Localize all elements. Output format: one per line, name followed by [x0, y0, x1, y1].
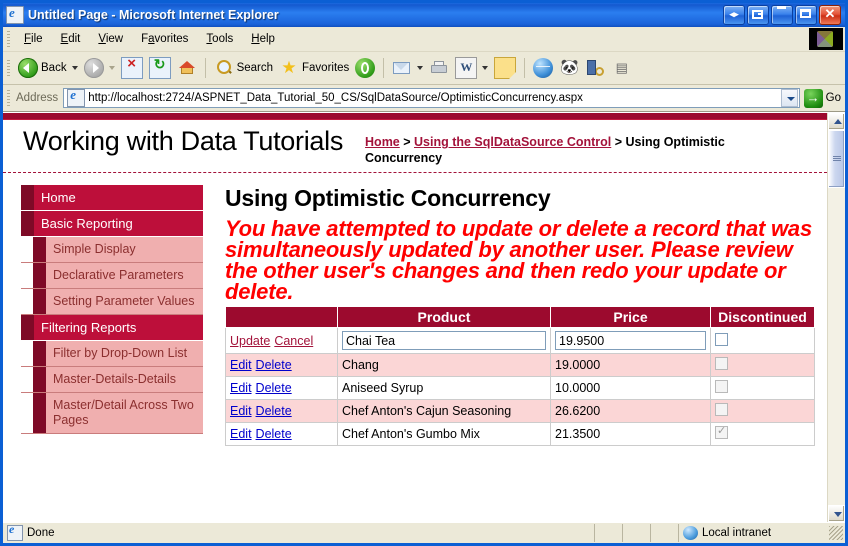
discontinued-checkbox: [715, 403, 728, 416]
discontinued-cell: [711, 377, 815, 400]
table-row: UpdateCancel: [226, 328, 815, 354]
delete-link[interactable]: Delete: [256, 404, 292, 418]
msn-button[interactable]: 🐼: [556, 55, 582, 81]
mail-button[interactable]: [389, 55, 426, 81]
concurrency-warning-message: You have attempted to update or delete a…: [225, 218, 815, 302]
address-url-text: http://localhost:2724/ASPNET_Data_Tutori…: [88, 92, 780, 104]
notes-icon: [494, 57, 516, 79]
price-cell: [551, 328, 711, 354]
sidebar-item-setting-parameter-values[interactable]: Setting Parameter Values: [21, 289, 203, 315]
grid-header-commands: [226, 307, 338, 328]
page-header: Working with Data Tutorials Home > Using…: [3, 120, 827, 170]
price-cell: 10.0000: [551, 377, 711, 400]
scroll-up-icon[interactable]: [828, 113, 845, 130]
search-button[interactable]: Search: [211, 55, 276, 81]
media-icon: [355, 58, 375, 78]
chevron-down-icon[interactable]: [781, 89, 798, 107]
discontinued-checkbox: [715, 426, 728, 439]
scroll-down-icon[interactable]: [828, 505, 845, 522]
sidebar-item-filter-by-drop-down-list[interactable]: Filter by Drop-Down List: [21, 341, 203, 367]
edit-link[interactable]: Edit: [230, 427, 252, 441]
scrollbar-thumb[interactable]: [828, 130, 845, 188]
messenger-button[interactable]: [530, 55, 556, 81]
home-button[interactable]: [174, 55, 200, 81]
page-viewport: Working with Data Tutorials Home > Using…: [3, 112, 845, 522]
green-arrow-icon: [804, 89, 823, 108]
sidebar-item-declarative-parameters[interactable]: Declarative Parameters: [21, 263, 203, 289]
scrollbar-track[interactable]: [828, 130, 845, 505]
main-content: Using Optimistic Concurrency You have at…: [203, 173, 827, 446]
product-cell: [338, 328, 551, 354]
grid-header-product: Product: [338, 307, 551, 328]
update-link[interactable]: Update: [230, 334, 270, 348]
window-title: Untitled Page - Microsoft Internet Explo…: [28, 8, 279, 22]
toolbar-separator-2: [383, 58, 384, 78]
window-app-icon: [6, 6, 24, 24]
media-button[interactable]: [352, 55, 378, 81]
go-button[interactable]: Go: [802, 89, 845, 108]
page-body: Home Basic Reporting Simple Display Decl…: [3, 173, 827, 446]
address-grip[interactable]: [7, 90, 10, 106]
mail-icon: [392, 58, 412, 78]
messenger-globe-icon: [533, 58, 553, 78]
address-label: Address: [15, 92, 63, 104]
row-commands: EditDelete: [226, 354, 338, 377]
product-cell: Chef Anton's Gumbo Mix: [338, 423, 551, 446]
edit-link[interactable]: Edit: [230, 358, 252, 372]
print-button[interactable]: [426, 55, 452, 81]
grid-header-row: Product Price Discontinued: [226, 307, 815, 328]
maximize-button[interactable]: [795, 5, 817, 25]
menu-edit[interactable]: Edit: [52, 31, 90, 47]
price-input[interactable]: [555, 331, 706, 350]
breadcrumb-link-home[interactable]: Home: [365, 135, 400, 149]
table-row: EditDelete Chang 19.0000: [226, 354, 815, 377]
minimize-button[interactable]: [771, 5, 793, 25]
row-commands: UpdateCancel: [226, 328, 338, 354]
back-dropdown-icon[interactable]: [72, 66, 78, 70]
menu-help[interactable]: Help: [242, 31, 284, 47]
menu-bar: File Edit View Favorites Tools Help: [3, 27, 845, 52]
grid-header-discontinued: Discontinued: [711, 307, 815, 328]
menu-favorites[interactable]: Favorites: [132, 31, 197, 47]
notes-button[interactable]: [491, 55, 519, 81]
edit-html-icon: ▤: [611, 58, 631, 78]
sidebar-item-master-detail-across-two-pages[interactable]: Master/Detail Across Two Pages: [21, 393, 203, 434]
table-row: EditDelete Aniseed Syrup 10.0000: [226, 377, 815, 400]
print-icon: [429, 58, 449, 78]
price-cell: 21.3500: [551, 423, 711, 446]
discontinued-checkbox: [715, 380, 728, 393]
favorites-button[interactable]: ★ Favorites: [276, 55, 352, 81]
menu-tools[interactable]: Tools: [197, 31, 242, 47]
delete-link[interactable]: Delete: [256, 427, 292, 441]
delete-link[interactable]: Delete: [256, 381, 292, 395]
status-bar: Done Local intranet: [3, 522, 845, 543]
page-title: Using Optimistic Concurrency: [225, 185, 815, 212]
sidebar-item-master-details-details[interactable]: Master-Details-Details: [21, 367, 203, 393]
sidebar-nav: Home Basic Reporting Simple Display Decl…: [3, 173, 203, 434]
sidebar-item-filtering-reports[interactable]: Filtering Reports: [21, 315, 203, 341]
status-pane-3: [651, 524, 679, 542]
address-input[interactable]: http://localhost:2724/ASPNET_Data_Tutori…: [63, 88, 799, 108]
close-button[interactable]: ✕: [819, 5, 841, 25]
grid-header-price: Price: [551, 307, 711, 328]
breadcrumb-sep-1: >: [400, 135, 414, 149]
window-controls: ◂▸ ✕: [723, 5, 843, 25]
stop-button[interactable]: [118, 55, 146, 81]
row-commands: EditDelete: [226, 400, 338, 423]
security-zone[interactable]: Local intranet: [679, 524, 829, 542]
row-commands: EditDelete: [226, 377, 338, 400]
back-button[interactable]: Back: [15, 55, 81, 81]
price-cell: 26.6200: [551, 400, 711, 423]
toolbar: Back Search ★ Favorites: [3, 52, 845, 85]
price-cell: 19.0000: [551, 354, 711, 377]
discontinued-checkbox: [715, 357, 728, 370]
edit-word-icon: [455, 57, 477, 79]
security-zone-text: Local intranet: [702, 527, 771, 539]
search-icon: [214, 58, 234, 78]
discontinued-cell: [711, 423, 815, 446]
status-page-icon: [7, 525, 23, 541]
mail-dropdown-icon[interactable]: [417, 66, 423, 70]
toolbar-grip[interactable]: [7, 60, 10, 76]
menu-grip[interactable]: [7, 31, 10, 47]
sidebar-item-basic-reporting[interactable]: Basic Reporting: [21, 211, 203, 237]
restore-window-button[interactable]: [747, 5, 769, 25]
status-message: Done: [3, 524, 595, 542]
home-icon: [177, 58, 197, 78]
browser-window: Untitled Page - Microsoft Internet Explo…: [0, 0, 848, 546]
edit-word-button[interactable]: [452, 55, 491, 81]
breadcrumb-sep-2: >: [611, 135, 625, 149]
product-cell: Chef Anton's Cajun Seasoning: [338, 400, 551, 423]
toolbar-separator: [205, 58, 206, 78]
page-top-accent-bar: [3, 113, 827, 120]
windows-flag-icon: [809, 28, 843, 50]
edit-dropdown-icon[interactable]: [482, 66, 488, 70]
refresh-button[interactable]: [146, 55, 174, 81]
edit-link[interactable]: Edit: [230, 381, 252, 395]
forward-dropdown-icon[interactable]: [109, 66, 115, 70]
intranet-globe-icon: [683, 526, 698, 540]
row-commands: EditDelete: [226, 423, 338, 446]
title-bar: Untitled Page - Microsoft Internet Explo…: [3, 3, 845, 27]
forward-icon: [84, 58, 104, 78]
discontinued-cell: [711, 400, 815, 423]
table-row: EditDelete Chef Anton's Gumbo Mix 21.350…: [226, 423, 815, 446]
toolbar-separator-3: [524, 58, 525, 78]
breadcrumb: Home > Using the SqlDataSource Control >…: [343, 126, 745, 166]
delete-link[interactable]: Delete: [256, 358, 292, 372]
sidebar-item-simple-display[interactable]: Simple Display: [21, 237, 203, 263]
product-cell: Aniseed Syrup: [338, 377, 551, 400]
restore-left-right-button[interactable]: ◂▸: [723, 5, 745, 25]
menu-view[interactable]: View: [89, 31, 132, 47]
page-content: Working with Data Tutorials Home > Using…: [3, 113, 827, 522]
msn-icon: 🐼: [559, 58, 579, 78]
address-bar: Address http://localhost:2724/ASPNET_Dat…: [3, 85, 845, 112]
status-text: Done: [27, 527, 55, 539]
table-row: EditDelete Chef Anton's Cajun Seasoning …: [226, 400, 815, 423]
back-icon: [18, 58, 38, 78]
discontinued-cell: [711, 328, 815, 354]
sidebar-item-home[interactable]: Home: [21, 185, 203, 211]
products-grid: Product Price Discontinued UpdateCancel: [225, 306, 815, 446]
refresh-icon: [149, 57, 171, 79]
research-button[interactable]: [582, 55, 608, 81]
status-pane-1: [595, 524, 623, 542]
forward-button[interactable]: [81, 55, 118, 81]
address-favicon: [67, 89, 85, 107]
stop-icon: [121, 57, 143, 79]
edit-html-button[interactable]: ▤: [608, 55, 634, 81]
edit-link[interactable]: Edit: [230, 404, 252, 418]
research-icon: [585, 58, 605, 78]
site-title: Working with Data Tutorials: [3, 126, 343, 157]
cancel-link[interactable]: Cancel: [274, 334, 313, 348]
status-pane-2: [623, 524, 651, 542]
product-name-input[interactable]: [342, 331, 546, 350]
favorites-star-icon: ★: [279, 58, 299, 78]
discontinued-checkbox[interactable]: [715, 333, 728, 346]
menu-file[interactable]: File: [15, 31, 52, 47]
discontinued-cell: [711, 354, 815, 377]
resize-grip[interactable]: [829, 526, 843, 540]
product-cell: Chang: [338, 354, 551, 377]
vertical-scrollbar[interactable]: [827, 113, 845, 522]
breadcrumb-link-section[interactable]: Using the SqlDataSource Control: [414, 135, 611, 149]
